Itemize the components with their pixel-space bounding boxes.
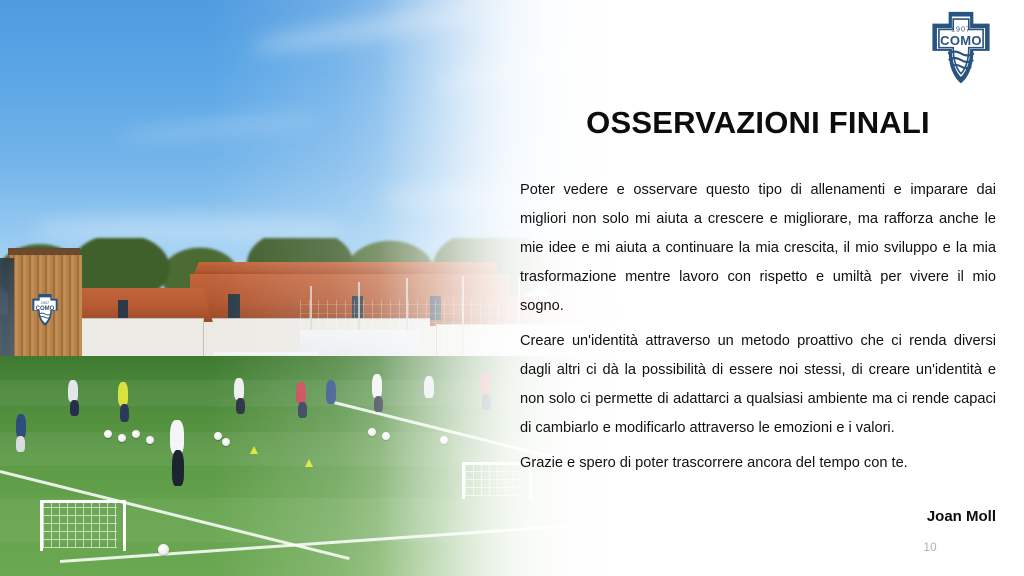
como-1907-crest-icon: 1907 COMO	[922, 8, 1000, 86]
svg-text:COMO: COMO	[940, 33, 982, 48]
paragraph: Creare un'identità attraverso un metodo …	[520, 327, 996, 443]
svg-text:1907: 1907	[951, 25, 971, 33]
presentation-slide: 1907 COMO cinque U	[0, 0, 1024, 576]
paragraph: Grazie e spero di poter trascorrere anco…	[520, 449, 996, 478]
paragraph: Poter vedere e osservare questo tipo di …	[520, 176, 996, 321]
page-number: 10	[900, 540, 960, 554]
page-title: OSSERVAZIONI FINALI	[520, 105, 996, 141]
body-text-block: Poter vedere e osservare questo tipo di …	[520, 176, 996, 484]
author-signature: Joan Moll	[520, 508, 996, 525]
